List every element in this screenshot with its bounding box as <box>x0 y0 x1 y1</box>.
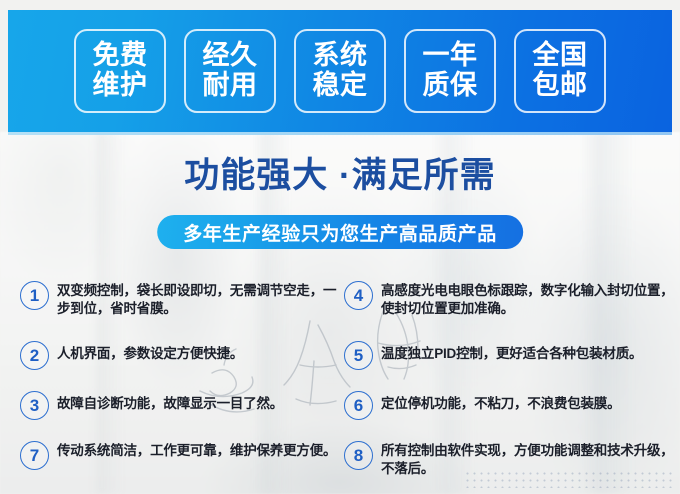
badge-line-1: 系统 <box>313 41 368 71</box>
badge-line-1: 全国 <box>533 41 588 71</box>
feature-text: 故障自诊断功能，故障显示一目了然。 <box>57 390 283 413</box>
feature-text: 所有控制由软件实现，方便功能调整和技术升级，不落后。 <box>381 440 674 478</box>
feature-item-4: 4 高感度光电电眼色标跟踪，数字化输入封切位置，使封切位置更加准确。 <box>344 280 674 318</box>
badge-line-2: 质保 <box>423 71 478 101</box>
badge-line-2: 稳定 <box>313 71 368 101</box>
feature-number-badge: 8 <box>344 441 373 470</box>
badge-line-1: 经久 <box>203 41 258 71</box>
badge-line-2: 包邮 <box>533 71 588 101</box>
feature-number-badge: 6 <box>344 391 373 420</box>
feature-item-1: 1 双变频控制，袋长即设即切，无需调节空走，一步到位，省时省膜。 <box>20 280 340 318</box>
badge-stable-system: 系统 稳定 <box>294 29 386 113</box>
promo-page: 免费 维护 经久 耐用 系统 稳定 一年 质保 全国 包邮 功能强大 ·满足所需… <box>0 0 680 494</box>
feature-item-5: 5 温度独立PID控制，更好适合各种包装材质。 <box>344 340 674 370</box>
badge-free-maintenance: 免费 维护 <box>74 29 166 113</box>
feature-badge-banner: 免费 维护 经久 耐用 系统 稳定 一年 质保 全国 包邮 <box>8 10 672 132</box>
feature-number-badge: 2 <box>20 341 49 370</box>
feature-number-badge: 7 <box>20 441 49 470</box>
feature-text: 双变频控制，袋长即设即切，无需调节空走，一步到位，省时省膜。 <box>57 280 340 318</box>
badge-line-1: 一年 <box>423 41 478 71</box>
feature-number-badge: 3 <box>20 391 49 420</box>
feature-text: 高感度光电电眼色标跟踪，数字化输入封切位置，使封切位置更加准确。 <box>381 280 674 318</box>
feature-text: 温度独立PID控制，更好适合各种包装材质。 <box>381 340 642 363</box>
feature-item-3: 3 故障自诊断功能，故障显示一目了然。 <box>20 390 340 420</box>
banner-underline <box>8 132 672 135</box>
badge-nationwide-shipping: 全国 包邮 <box>514 29 606 113</box>
page-title: 功能强大 ·满足所需 <box>0 158 680 193</box>
feature-text: 人机界面，参数设定方便快捷。 <box>57 340 243 363</box>
feature-item-7: 7 传动系统简洁，工作更可靠，维护保养更方便。 <box>20 440 340 470</box>
feature-number-badge: 4 <box>344 281 373 310</box>
feature-text: 传动系统简洁，工作更可靠，维护保养更方便。 <box>57 440 336 460</box>
badge-line-2: 维护 <box>93 71 148 101</box>
feature-list: 1 双变频控制，袋长即设即切，无需调节空走，一步到位，省时省膜。 2 人机界面，… <box>0 272 680 494</box>
badge-line-2: 耐用 <box>203 71 258 101</box>
feature-item-8: 8 所有控制由软件实现，方便功能调整和技术升级，不落后。 <box>344 440 674 478</box>
feature-item-2: 2 人机界面，参数设定方便快捷。 <box>20 340 340 370</box>
feature-number-badge: 1 <box>20 281 49 310</box>
feature-item-6: 6 定位停机功能，不粘刀，不浪费包装膜。 <box>344 390 674 420</box>
feature-number-badge: 5 <box>344 341 373 370</box>
subtitle-pill: 多年生产经验只为您生产高品质产品 <box>157 215 523 249</box>
badge-durable: 经久 耐用 <box>184 29 276 113</box>
feature-text: 定位停机功能，不粘刀，不浪费包装膜。 <box>381 390 620 413</box>
badge-line-1: 免费 <box>93 41 148 71</box>
badge-one-year-warranty: 一年 质保 <box>404 29 496 113</box>
